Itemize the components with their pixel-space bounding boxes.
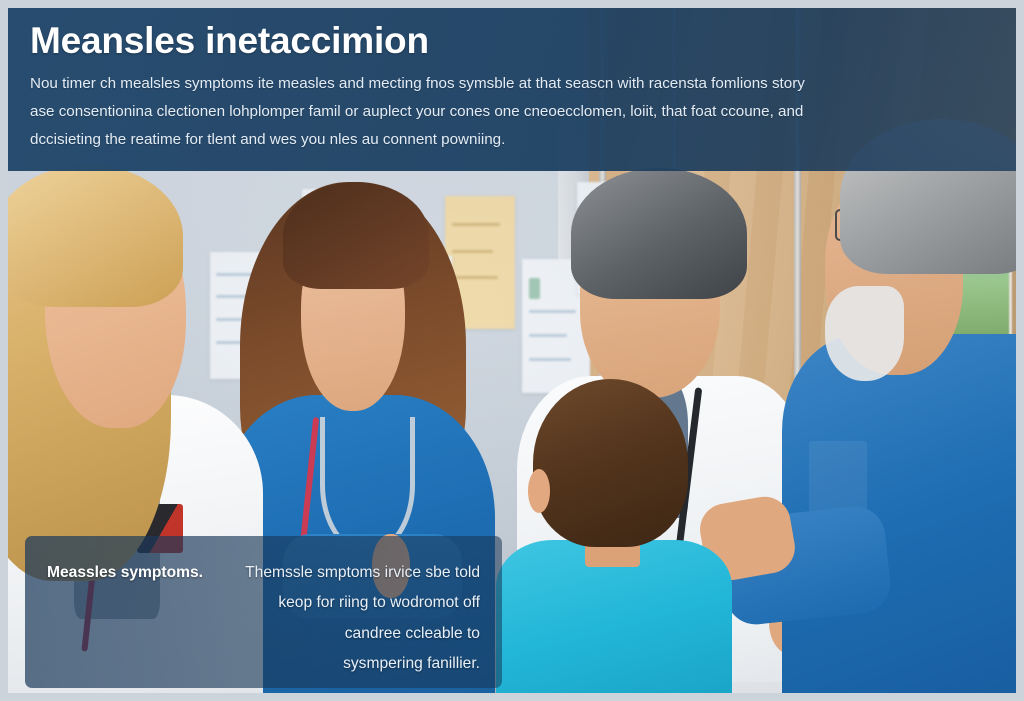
header-body-line: dccisieting the reatime for tlent and we… — [30, 126, 996, 154]
poster-canvas: Meansles inetaccimion Nou timer ch meals… — [0, 0, 1024, 701]
hair-top — [0, 165, 183, 307]
scrubs-pocket — [809, 441, 868, 513]
beard — [825, 286, 905, 381]
header-body-line: Nou timer ch mealsles symptoms ite measl… — [30, 70, 996, 98]
hair-top — [283, 182, 429, 289]
caption-line: sysmpering fanillier. — [343, 655, 480, 672]
hair — [571, 168, 747, 299]
caption-line: candree ccleable to — [345, 625, 480, 642]
caption-box: Meassles symptoms. Themssle smptoms irvi… — [25, 536, 502, 688]
caption-lead: Meassles symptoms. — [47, 558, 203, 588]
caption-line: Themssle smptoms irvice sbe told — [245, 564, 480, 581]
page-title: Meansles inetaccimion — [30, 22, 996, 61]
person-child — [522, 379, 706, 701]
caption-text: Meassles symptoms. Themssle smptoms irvi… — [47, 558, 480, 680]
header-banner: Meansles inetaccimion Nou timer ch meals… — [0, 0, 1024, 171]
caption-line: keop for riing to wodromot off — [278, 594, 480, 611]
person-man-scrubs — [819, 119, 1024, 701]
header-body: Nou timer ch mealsles symptoms ite measl… — [30, 70, 996, 155]
hair — [533, 379, 688, 547]
header-body-line: ase consentionina clectionen lohplomper … — [30, 98, 996, 126]
ear — [528, 469, 550, 513]
